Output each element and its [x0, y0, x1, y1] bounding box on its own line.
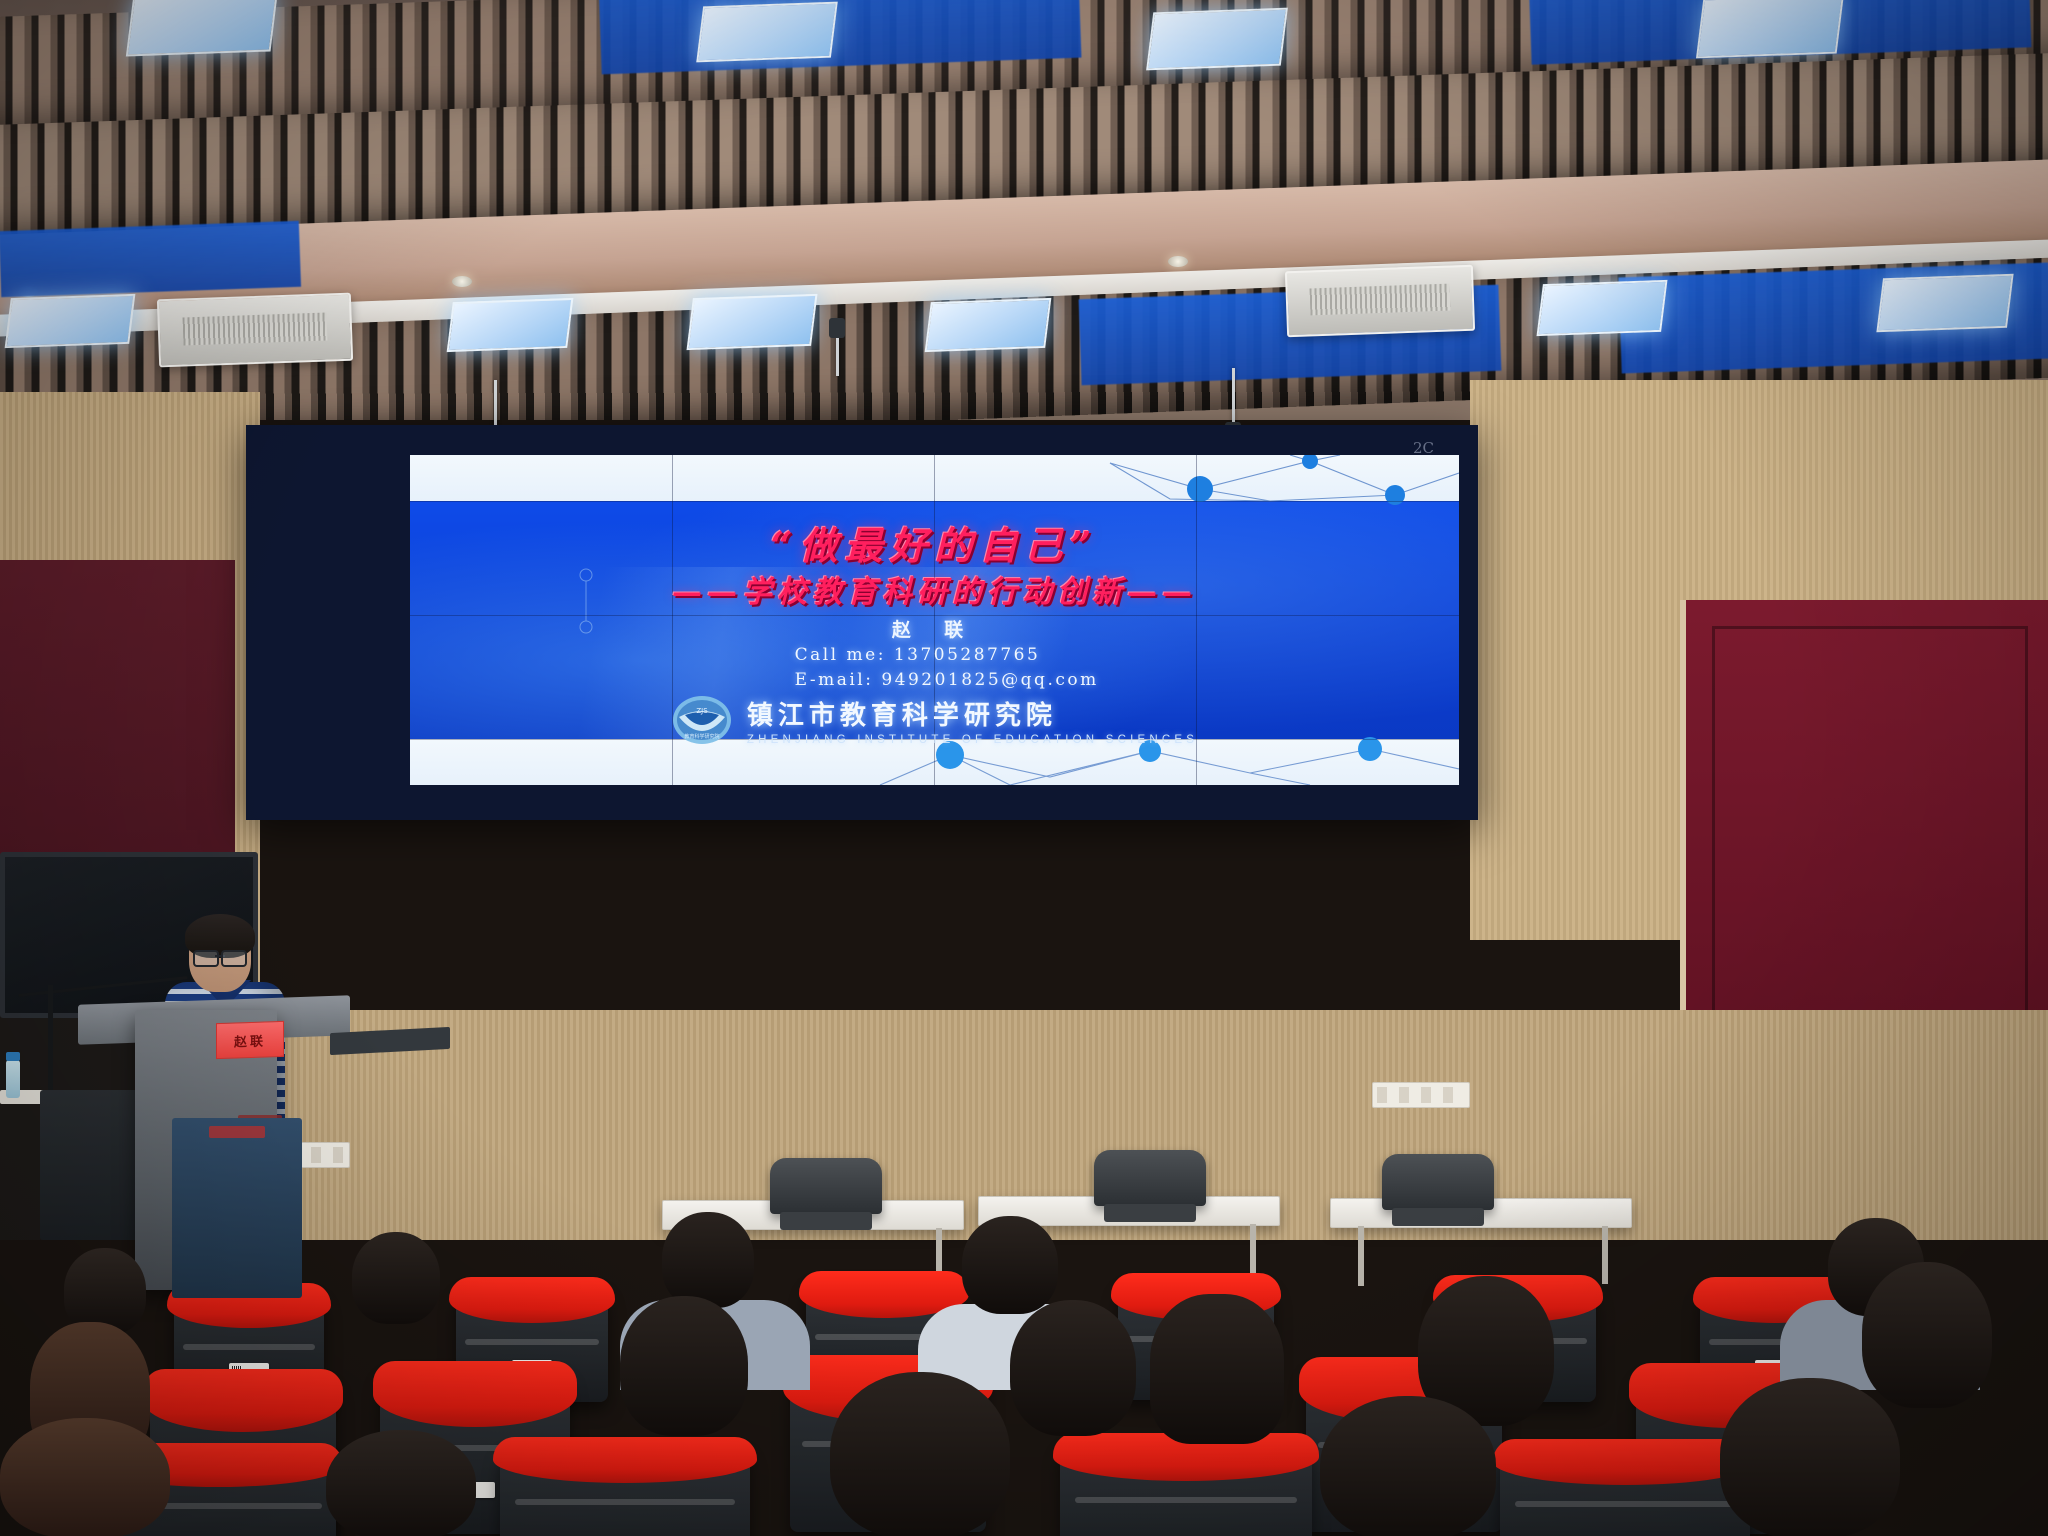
wall-socket-right[interactable] [1372, 1082, 1470, 1108]
microphone-stand [48, 985, 53, 1105]
presenter-glasses-icon [193, 950, 247, 963]
water-bottle[interactable] [6, 1060, 20, 1098]
ceiling [0, 0, 2048, 420]
cabinet-label [209, 1126, 265, 1138]
floor-speaker-box [40, 1090, 150, 1240]
slide-organization: ZJS 教育科学研究院 镇江市教育科学研究院 ZHENJIANG INSTITU… [410, 693, 1459, 747]
slide-contact-block: Call me: 13705287765 E-mail: 949201825@q… [795, 643, 1099, 692]
front-chair-2[interactable] [1094, 1150, 1206, 1206]
audience-head-r1-2 [352, 1232, 440, 1324]
ceiling-spotlight-2 [452, 276, 472, 287]
podium-nameplate-text: 赵联 [234, 1030, 266, 1050]
ceiling-light-panel-3 [1146, 8, 1288, 71]
front-chair-3[interactable] [1382, 1154, 1494, 1210]
audience-head-r2-4 [1150, 1294, 1284, 1444]
table-leg-6 [1602, 1226, 1608, 1284]
led-video-wall[interactable]: 2C [246, 425, 1478, 820]
ceiling-light-panel-10 [1876, 274, 2013, 333]
podium-nameplate: 赵联 [216, 1021, 284, 1059]
ceiling-light-panel-9 [1536, 280, 1667, 336]
svg-text:ZJS: ZJS [696, 707, 708, 715]
slide-phone-line: Call me: 13705287765 [795, 643, 1099, 668]
audience-head-r2-2 [620, 1296, 748, 1436]
ceiling-blue-wash-3 [0, 221, 301, 297]
audience-head-r3-4 [1720, 1378, 1900, 1536]
water-bottle-cap [6, 1052, 20, 1061]
audience-head-r3-2 [830, 1372, 1010, 1536]
front-chair-1[interactable] [770, 1158, 882, 1214]
organization-name-en: ZHENJIANG INSTITUTE OF EDUCATION SCIENCE… [747, 734, 1198, 746]
zhenjiang-institute-logo-icon: ZJS 教育科学研究院 [671, 693, 733, 747]
seat[interactable] [1500, 1448, 1750, 1536]
slide-subtitle: ——学校教育科研的行动创新—— [410, 567, 1459, 611]
side-equipment-cabinet[interactable] [172, 1118, 302, 1298]
ceiling-light-panel-2 [696, 2, 838, 63]
svg-text:教育科学研究院: 教育科学研究院 [684, 733, 719, 740]
ceiling-light-panel-1 [126, 0, 278, 56]
audience-head-r1-1 [64, 1248, 146, 1334]
ceiling-light-panel-8 [925, 298, 1052, 352]
organization-names: 镇江市教育科学研究院 ZHENJIANG INSTITUTE OF EDUCAT… [747, 695, 1198, 746]
ceiling-light-panel-4 [1696, 0, 1844, 58]
audience-head-r3-5 [0, 1418, 170, 1536]
ceiling-mount-head-2 [829, 318, 845, 338]
slide-email-line: E-mail: 949201825@qq.com [795, 668, 1099, 693]
table-leg-5 [1358, 1226, 1364, 1286]
organization-name-cn: 镇江市教育科学研究院 [747, 695, 1057, 732]
seat[interactable] [1060, 1442, 1312, 1536]
slide-background: “做最好的自己” ——学校教育科研的行动创新—— 赵 联 Call me: 13… [410, 455, 1459, 785]
exit-door-right[interactable] [1680, 600, 2048, 1070]
slide-main-title: “做最好的自己” [410, 515, 1459, 570]
audience-head-r3-1 [326, 1430, 476, 1536]
ceiling-light-panel-6 [447, 298, 574, 352]
ceiling-light-panel-7 [686, 294, 817, 350]
ceiling-light-panel-5 [5, 294, 136, 348]
audience-head-r1-4 [962, 1216, 1058, 1314]
ceiling-spotlight-3 [1168, 256, 1188, 267]
slide-speaker-name: 赵 联 [410, 615, 1459, 642]
presentation-slide[interactable]: “做最好的自己” ——学校教育科研的行动创新—— 赵 联 Call me: 13… [410, 455, 1459, 785]
audience-head-r1-3 [662, 1212, 754, 1308]
seat[interactable] [500, 1446, 750, 1536]
audience-head-r2-3 [1010, 1300, 1136, 1436]
auditorium-scene: 2C [0, 0, 2048, 1536]
ac-vent-2 [1285, 265, 1475, 338]
audience-head-r3-3 [1320, 1396, 1496, 1536]
audience-head-r2-6 [1862, 1262, 1992, 1408]
ac-vent-1 [157, 293, 353, 368]
